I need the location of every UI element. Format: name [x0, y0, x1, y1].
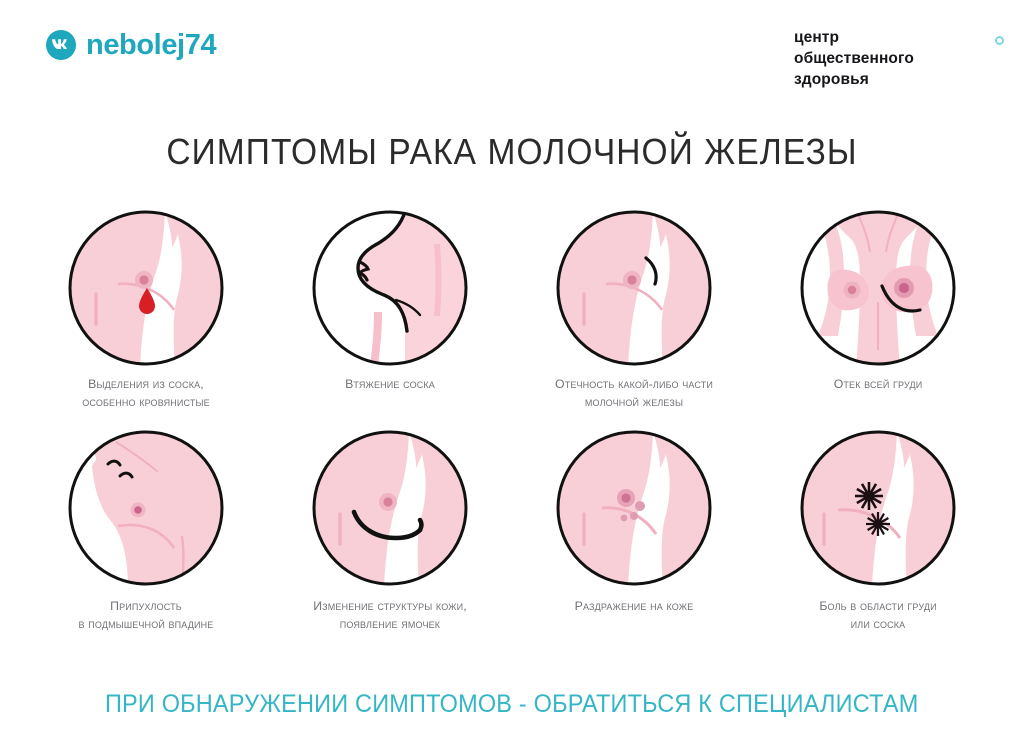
- symptom-card-nipple-discharge: Выделения из соска, особенно кровянистые: [24, 208, 268, 428]
- symptom-card-skin-irritation: Раздражение на коже: [512, 428, 756, 648]
- armpit-lump-icon: [66, 428, 226, 588]
- footer-banner: ПРИ ОБНАРУЖЕНИИ СИМПТОМОВ - ОБРАТИТЬСЯ К…: [0, 674, 1024, 734]
- breast-pain-icon: [798, 428, 958, 588]
- org-line-1: центр: [794, 28, 994, 49]
- breast-partial-swelling-icon: [554, 208, 714, 368]
- organization-name: центр общественного здоровья: [794, 28, 994, 91]
- footer-call-to-action: ПРИ ОБНАРУЖЕНИИ СИМПТОМОВ - ОБРАТИТЬСЯ К…: [105, 690, 919, 719]
- symptom-caption: Отечность какой-либо части молочной желе…: [514, 376, 754, 412]
- symptom-caption: Втяжение соска: [270, 376, 510, 394]
- page-header: nebolej74 центр общественного здоровья: [0, 0, 1024, 120]
- symptom-caption: Боль в области груди или соска: [758, 598, 998, 634]
- org-line-2: общественного: [794, 49, 994, 70]
- symptoms-grid: Выделения из соска, особенно кровянистые: [24, 208, 1000, 648]
- symptom-card-nipple-retraction: Втяжение соска: [268, 208, 512, 428]
- page-title: СИМПТОМЫ РАКА МОЛОЧНОЙ ЖЕЛЕЗЫ: [36, 131, 988, 173]
- breasts-whole-edema-icon: [798, 208, 958, 368]
- symptom-card-breast-pain: Боль в области груди или соска: [756, 428, 1000, 648]
- vk-logo-icon[interactable]: [46, 30, 76, 60]
- symptom-caption: Изменение структуры кожи, появление ямоч…: [270, 598, 510, 634]
- symptom-card-whole-breast-edema: Отек всей груди: [756, 208, 1000, 428]
- symptom-caption: Отек всей груди: [758, 376, 998, 394]
- breast-nipple-discharge-icon: [66, 208, 226, 368]
- breast-skin-dimpling-icon: [310, 428, 470, 588]
- brand-logo[interactable]: nebolej74: [46, 30, 216, 60]
- brand-name: nebolej74: [86, 31, 216, 60]
- breast-skin-irritation-icon: [554, 428, 714, 588]
- symptom-caption: Выделения из соска, особенно кровянистые: [26, 376, 266, 412]
- circle-accent-icon: [995, 36, 1004, 45]
- symptom-card-partial-swelling: Отечность какой-либо части молочной желе…: [512, 208, 756, 428]
- org-line-3: здоровья: [794, 70, 994, 91]
- breast-nipple-retraction-icon: [310, 208, 470, 368]
- symptom-card-armpit-lump: Припухлость в подмышечной впадине: [24, 428, 268, 648]
- symptom-caption: Раздражение на коже: [514, 598, 754, 616]
- symptom-card-skin-texture-change: Изменение структуры кожи, появление ямоч…: [268, 428, 512, 648]
- symptom-caption: Припухлость в подмышечной впадине: [26, 598, 266, 634]
